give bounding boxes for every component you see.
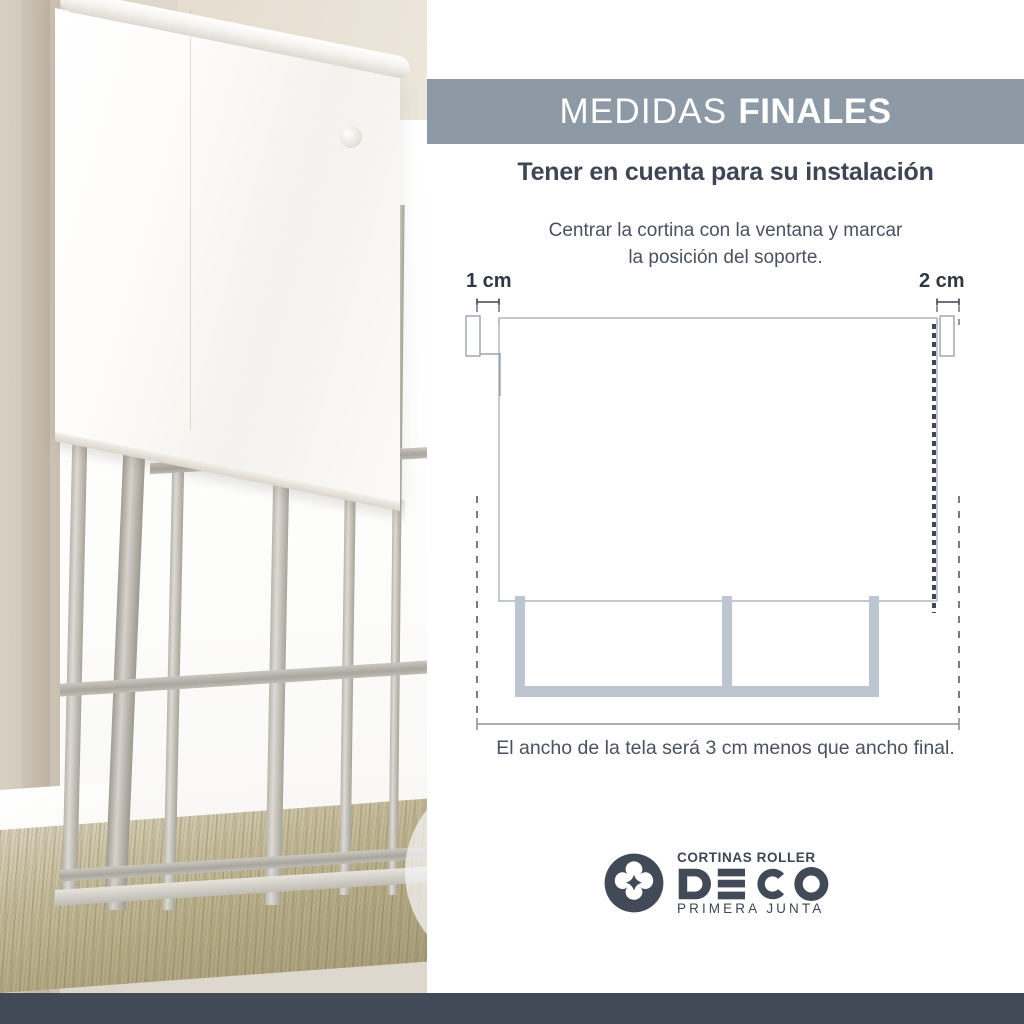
roller-blind-fabric <box>55 8 400 508</box>
deco-flower-icon <box>604 853 664 913</box>
logo-bottom-text: PRIMERA JUNTA <box>677 902 824 916</box>
logo-brand-deco <box>677 867 847 901</box>
fabric-width-caption: El ancho de la tela será 3 cm menos que … <box>427 737 1024 760</box>
fabric-seam <box>190 10 191 430</box>
left-support-bracket <box>466 316 501 396</box>
poster-canvas: MEDIDAS FINALES Tener en cuenta para su … <box>0 0 1024 1024</box>
instruction-line-1: Centrar la cortina con la ventana y marc… <box>427 218 1024 245</box>
bead-chain <box>931 320 937 613</box>
page-subtitle: Tener en cuenta para su instalación <box>427 158 1024 187</box>
window-frame-outline <box>515 596 879 697</box>
left-gap-dimension <box>477 299 499 306</box>
bottom-accent-bar <box>0 993 1024 1024</box>
roller-end-cap <box>340 126 362 148</box>
logo-wordmark: CORTINAS ROLLER PRIMERA JUNTA <box>677 851 847 915</box>
roller-fabric-panel <box>499 318 937 601</box>
title-banner: MEDIDAS FINALES <box>427 79 1024 144</box>
right-gap-dimension <box>937 299 959 306</box>
brand-logo: CORTINAS ROLLER PRIMERA JUNTA <box>427 843 1024 923</box>
product-photo <box>0 0 427 993</box>
left-gap-label: 1 cm <box>466 270 512 293</box>
right-gap-label: 2 cm <box>919 270 965 293</box>
content-panel: MEDIDAS FINALES Tener en cuenta para su … <box>427 0 1024 993</box>
title-bold: FINALES <box>738 92 891 132</box>
right-support-bracket <box>940 316 954 356</box>
instruction-line-2: la posición del soporte. <box>427 245 1024 272</box>
instruction-text: Centrar la cortina con la ventana y marc… <box>427 218 1024 272</box>
installation-diagram <box>427 296 1024 736</box>
logo-top-text: CORTINAS ROLLER <box>677 851 816 865</box>
title-light: MEDIDAS <box>559 92 727 132</box>
total-width-dimension <box>477 718 959 730</box>
